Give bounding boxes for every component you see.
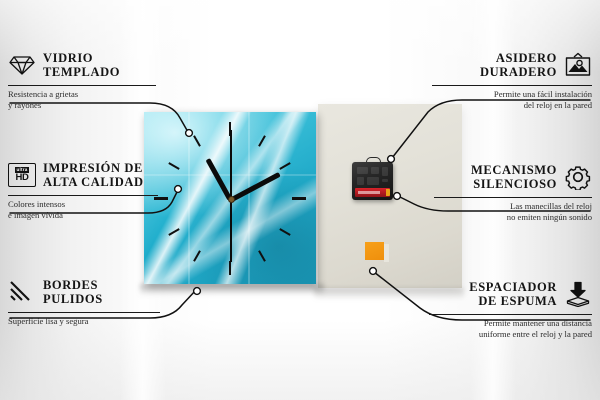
hand-center-cap <box>228 196 235 203</box>
feature-vidrio-templado: VIDRIO TEMPLADO Resistencia a grietas y … <box>8 48 193 110</box>
feature-description: Las manecillas del reloj no emiten ningú… <box>407 201 592 222</box>
polished-edges-icon <box>8 278 36 306</box>
feature-asidero-duradero: ASIDERO DURADERO Permite una fácil insta… <box>407 48 592 110</box>
tick-6 <box>229 261 231 275</box>
tick-3 <box>292 197 306 200</box>
ultra-hd-icon: ultra HD <box>8 161 36 189</box>
feature-espaciador-de-espuma: ESPACIADOR DE ESPUMA Permite mantener un… <box>407 277 592 339</box>
feature-title: ESPACIADOR DE ESPUMA <box>469 280 557 308</box>
feature-description: Colores intensos e imagen vívida <box>8 199 193 220</box>
movement-detail-4 <box>357 177 364 185</box>
movement-detail-6 <box>382 179 388 182</box>
foam-spacer-top <box>365 242 384 260</box>
ultra-hd-badge-big-text: HD <box>15 173 28 183</box>
feature-description: Permite una fácil instalación del reloj … <box>407 89 592 110</box>
feature-heading: BORDES PULIDOS <box>8 275 193 309</box>
feature-title: IMPRESIÓN DE ALTA CALIDAD <box>43 161 144 189</box>
feature-bordes-pulidos: BORDES PULIDOS Superficie lisa y segura <box>8 275 193 327</box>
feature-heading: VIDRIO TEMPLADO <box>8 48 193 82</box>
picture-hanger-icon <box>564 51 592 79</box>
diamond-icon <box>8 51 36 79</box>
movement-detail-5 <box>367 177 379 185</box>
feature-description: Resistencia a grietas y rayones <box>8 89 193 110</box>
ultra-hd-badge: ultra HD <box>8 163 36 187</box>
feature-title: ASIDERO DURADERO <box>480 51 557 79</box>
feature-mecanismo-silencioso: MECANISMO SILENCIOSO Las manecillas del … <box>407 160 592 222</box>
feature-heading: ultra HD IMPRESIÓN DE ALTA CALIDAD <box>8 158 193 192</box>
movement-detail-3 <box>382 167 388 176</box>
foam-spacer-icon <box>564 280 592 308</box>
battery-label <box>358 191 380 194</box>
feature-divider <box>429 314 592 315</box>
feature-title: BORDES PULIDOS <box>43 278 103 306</box>
feature-divider <box>8 85 156 86</box>
foam-spacer-side <box>384 244 389 262</box>
feature-title: MECANISMO SILENCIOSO <box>471 163 557 191</box>
clock-movement <box>352 162 393 200</box>
feature-impresion-alta-calidad: ultra HD IMPRESIÓN DE ALTA CALIDAD Color… <box>8 158 193 220</box>
feature-heading: MECANISMO SILENCIOSO <box>407 160 592 194</box>
foam-spacer <box>365 242 384 260</box>
battery-positive-terminal <box>386 189 390 196</box>
feature-divider <box>432 85 592 86</box>
battery <box>355 188 390 197</box>
feature-heading: ESPACIADOR DE ESPUMA <box>407 277 592 311</box>
feature-heading: ASIDERO DURADERO <box>407 48 592 82</box>
movement-detail-1 <box>357 167 368 174</box>
gear-icon <box>564 163 592 191</box>
feature-title: VIDRIO TEMPLADO <box>43 51 120 79</box>
feature-divider <box>8 312 160 313</box>
feature-description: Superficie lisa y segura <box>8 316 193 327</box>
product-infographic: VIDRIO TEMPLADO Resistencia a grietas y … <box>0 0 600 400</box>
feature-description: Permite mantener una distancia uniforme … <box>407 318 592 339</box>
feature-divider <box>8 195 158 196</box>
movement-detail-2 <box>371 167 379 174</box>
feature-divider <box>434 197 592 198</box>
